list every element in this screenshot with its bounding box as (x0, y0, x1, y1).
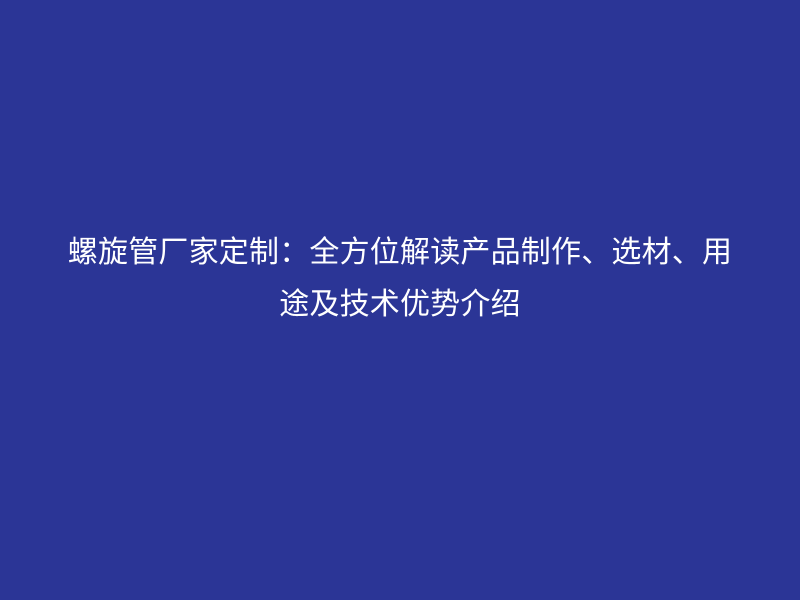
headline-container: 螺旋管厂家定制：全方位解读产品制作、选材、用途及技术优势介绍 (54, 227, 746, 331)
page-title: 螺旋管厂家定制：全方位解读产品制作、选材、用途及技术优势介绍 (54, 227, 746, 331)
title-card-banner: 螺旋管厂家定制：全方位解读产品制作、选材、用途及技术优势介绍 (0, 0, 800, 600)
